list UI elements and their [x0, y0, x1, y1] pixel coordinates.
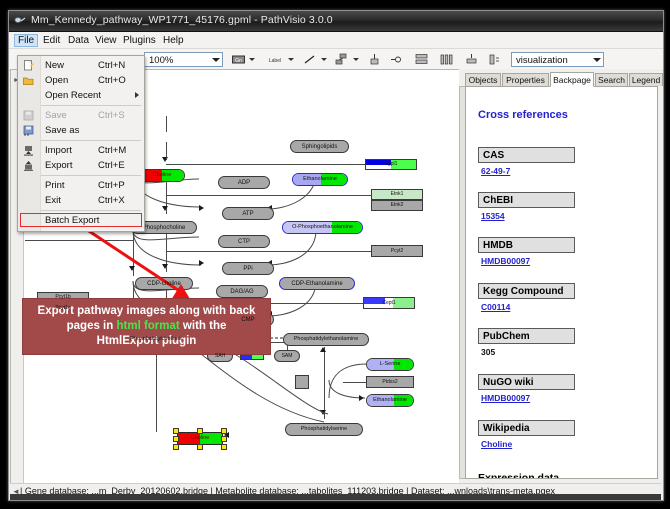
- window-title: Mm_Kennedy_pathway_WP1771_45176.gpml - P…: [31, 14, 333, 26]
- node-gene-etnk2[interactable]: Etnk2: [371, 200, 423, 211]
- align-top-icon[interactable]: [367, 52, 382, 67]
- side-panel-tabs: Objects Properties Backpage Search Legen…: [465, 72, 662, 87]
- node-label: Choline: [191, 436, 210, 442]
- xref-header-label: Kegg Compound: [479, 286, 564, 297]
- menu-item-label: Exit: [45, 195, 61, 206]
- svg-text:Gn: Gn: [235, 58, 242, 64]
- screenshot-root: Mm_Kennedy_pathway_WP1771_45176.gpml - P…: [0, 0, 670, 509]
- datanode-tool-icon[interactable]: Gn: [231, 52, 246, 67]
- menu-item-accel: Ctrl+P: [98, 180, 125, 191]
- xref-header: NuGO wiki: [478, 374, 575, 390]
- callout-highlight: html format: [116, 320, 179, 332]
- menu-help[interactable]: Help: [159, 34, 188, 47]
- open-folder-icon: [23, 75, 34, 86]
- edge-gene-stub-chkb: [25, 240, 134, 241]
- node-label: CDP-choline: [147, 281, 181, 287]
- cross-references-title: Cross references: [478, 109, 568, 121]
- menu-item-label: Import: [45, 145, 72, 156]
- selection-handle[interactable]: [173, 444, 179, 450]
- xref-entry-chebi: ChEBI 15354: [478, 192, 575, 208]
- order-icon[interactable]: [487, 52, 502, 67]
- node-label: DAG/AG: [230, 289, 253, 295]
- menu-item-batch-export[interactable]: Batch Export: [18, 213, 144, 228]
- node-ethanolamine-top[interactable]: Ethanolamine: [292, 173, 348, 186]
- xref-header: Wikipedia: [478, 420, 575, 436]
- new-document-icon: [23, 60, 34, 71]
- menu-item-new[interactable]: New Ctrl+N: [18, 58, 144, 73]
- menu-item-save: Save Ctrl+S: [18, 108, 144, 123]
- menu-item-accel: Ctrl+X: [98, 195, 125, 206]
- xref-value-link[interactable]: HMDB00097: [481, 256, 530, 266]
- node-gene-cept1[interactable]: Cept1: [363, 297, 415, 309]
- menu-item-accel: Ctrl+E: [98, 160, 125, 171]
- stack-vertical-icon[interactable]: [413, 52, 430, 67]
- menu-item-accel: Ctrl+N: [98, 60, 125, 71]
- menu-view[interactable]: View: [91, 34, 121, 47]
- menu-bar: File Edit Data View Plugins Help: [9, 32, 663, 49]
- menu-file[interactable]: File: [14, 34, 38, 47]
- node-phosphatidylethanolamine[interactable]: Phosphatidylethanolamine: [283, 333, 369, 346]
- export-icon: [23, 160, 34, 171]
- node-label: ADP: [238, 180, 250, 186]
- xref-header-label: PubChem: [479, 331, 530, 342]
- menu-item-label: Batch Export: [45, 215, 99, 226]
- tab-legend[interactable]: Legend: [629, 73, 663, 86]
- node-adp[interactable]: ADP: [218, 176, 270, 189]
- xref-value-link[interactable]: 62-49-7: [481, 166, 510, 176]
- menu-item-open-recent[interactable]: Open Recent: [18, 88, 144, 103]
- node-o-phosphoethanolamine[interactable]: O-Phosphoethanolamine: [282, 221, 363, 234]
- xref-value-text: 305: [481, 347, 495, 357]
- menu-item-accel: Ctrl+M: [98, 145, 126, 156]
- node-sam[interactable]: SAM: [274, 350, 300, 362]
- save-disk-icon: [23, 110, 34, 121]
- xref-header: Kegg Compound: [478, 283, 575, 299]
- node-l-serine[interactable]: L-Serine: [366, 358, 414, 371]
- menu-item-label: Save: [45, 110, 67, 121]
- xref-header-label: Wikipedia: [479, 423, 530, 434]
- menu-item-label: Print: [45, 180, 65, 191]
- line-tool-icon[interactable]: [302, 52, 317, 67]
- application-window: Mm_Kennedy_pathway_WP1771_45176.gpml - P…: [8, 10, 664, 501]
- node-sphingolipids[interactable]: Sphingolipids: [290, 140, 349, 153]
- zoom-combobox[interactable]: 100%: [144, 52, 223, 67]
- node-ppi[interactable]: PPi: [222, 262, 274, 275]
- node-choline-top[interactable]: Choline: [139, 169, 185, 182]
- node-label: Sphingolipids: [302, 144, 338, 150]
- align-left-icon[interactable]: [389, 52, 406, 67]
- xref-entry-hmdb: HMDB HMDB00097: [478, 237, 575, 253]
- menu-item-label: Open: [45, 75, 68, 86]
- xref-header-label: HMDB: [479, 240, 513, 251]
- callout-line-2-b: with the: [180, 320, 227, 332]
- node-label: Pcyt1b: [55, 295, 70, 300]
- node-dag-ag[interactable]: DAG/AG: [216, 285, 268, 298]
- node-gene-pcyt2[interactable]: Pcyt2: [371, 245, 423, 257]
- zoom-value: 100%: [149, 55, 173, 66]
- menu-item-print[interactable]: Print Ctrl+P: [18, 178, 144, 193]
- edge-sphingolipids-in: [166, 116, 167, 132]
- menu-item-label: Save as: [45, 125, 79, 136]
- xref-entry-pubchem: PubChem 305: [478, 328, 575, 344]
- menu-item-label: Export: [45, 160, 72, 171]
- selection-handle[interactable]: [221, 436, 227, 442]
- node-label: CDP-Ethanolamine: [291, 281, 342, 287]
- node-label: Choline: [153, 173, 172, 179]
- node-label: O-Phosphoethanolamine: [292, 225, 353, 231]
- backpage-content: Cross references CAS 62-49-7 ChEBI 15354…: [465, 86, 658, 479]
- visualization-combobox[interactable]: visualization: [511, 52, 604, 67]
- xref-header: ChEBI: [478, 192, 575, 208]
- xref-header-label: CAS: [479, 150, 504, 161]
- node-label: CTP: [238, 239, 250, 245]
- selection-handle[interactable]: [197, 444, 203, 450]
- shape-dropdown-icon[interactable]: [353, 58, 359, 61]
- xref-value-link[interactable]: Choline: [481, 439, 512, 449]
- selection-handle[interactable]: [197, 428, 203, 434]
- node-gene-ptdss2[interactable]: Ptdss2: [366, 376, 414, 388]
- node-phosphatidylserine[interactable]: Phosphatidylserine: [285, 423, 363, 436]
- node-label: Cept1: [382, 301, 395, 306]
- menu-item-exit[interactable]: Exit Ctrl+X: [18, 193, 144, 208]
- visualization-value: visualization: [516, 55, 568, 66]
- node-label: Phosphocholine: [143, 225, 186, 231]
- menu-data[interactable]: Data: [64, 34, 93, 47]
- node-cdp-ethanolamine[interactable]: CDP-Ethanolamine: [279, 277, 355, 290]
- node-ctp[interactable]: CTP: [218, 235, 270, 248]
- tab-objects[interactable]: Objects: [465, 73, 501, 86]
- tab-backpage[interactable]: Backpage: [550, 72, 594, 87]
- node-label: Sgpl1: [385, 162, 398, 167]
- menu-item-import[interactable]: Import Ctrl+M: [18, 143, 144, 158]
- node-label: Pcyt2: [391, 249, 404, 254]
- file-menu-dropdown[interactable]: New Ctrl+N Open Ctrl+O Open Recent Save …: [17, 55, 145, 232]
- callout-line-2: pages in html format with the: [27, 319, 266, 334]
- xref-entry-wikipedia: Wikipedia Choline: [478, 420, 575, 436]
- menu-item-open[interactable]: Open Ctrl+O: [18, 73, 144, 88]
- xref-header-label: ChEBI: [479, 195, 513, 206]
- xref-entry-nugo: NuGO wiki HMDB00097: [478, 374, 575, 390]
- node-label: SAH: [215, 354, 225, 359]
- menu-item-accel: Ctrl+S: [98, 110, 125, 121]
- distribute-icon[interactable]: [438, 52, 455, 67]
- label-tool-icon[interactable]: Label: [264, 52, 286, 67]
- svg-text:Label: Label: [269, 58, 281, 64]
- title-bar: Mm_Kennedy_pathway_WP1771_45176.gpml - P…: [9, 11, 663, 32]
- node-label: Ethanolamine: [373, 398, 407, 404]
- edge-gene-stub-ptdss2: [343, 382, 366, 383]
- xref-header: PubChem: [478, 328, 575, 344]
- menu-item-save-as[interactable]: Save as: [18, 123, 144, 138]
- node-gene-unlabeled[interactable]: [295, 375, 309, 389]
- menu-item-accel: Ctrl+O: [98, 75, 126, 86]
- selection-handle[interactable]: [173, 436, 179, 442]
- node-label: Phosphatidylserine: [301, 427, 347, 433]
- save-as-icon: [23, 125, 34, 136]
- selection-handle[interactable]: [221, 428, 227, 434]
- node-label: Phosphatidylcholines: [130, 337, 182, 343]
- edge-gene-stub-sgpl1: [166, 164, 365, 165]
- pathvisio-app-icon: [14, 15, 26, 27]
- arrowhead-right-icon: [199, 205, 204, 211]
- window-bottom-strip: [10, 494, 661, 500]
- node-label: CMP: [241, 317, 254, 323]
- edge-sphingolipids-to-ethanolamine: [166, 142, 167, 160]
- selection-handle[interactable]: [173, 428, 179, 434]
- selection-handle[interactable]: [221, 444, 227, 450]
- node-gene-sgpl1[interactable]: Sgpl1: [365, 159, 417, 170]
- chevron-down-icon: [212, 58, 220, 62]
- node-ethanolamine-bottom[interactable]: Ethanolamine: [366, 394, 414, 407]
- node-atp[interactable]: ATP: [222, 207, 274, 220]
- node-label: SAM: [282, 354, 293, 359]
- node-gene-etnk1[interactable]: Etnk1: [371, 189, 423, 200]
- node-label: L-Serine: [380, 362, 401, 368]
- node-label: Etnk1: [391, 192, 404, 197]
- xref-value-link[interactable]: HMDB00097: [481, 393, 530, 403]
- xref-value-link[interactable]: 15354: [481, 211, 505, 221]
- menu-item-label: New: [45, 60, 64, 71]
- menu-item-label: Open Recent: [45, 90, 101, 101]
- xref-value-link[interactable]: C00114: [481, 302, 510, 312]
- xref-header: CAS: [478, 147, 575, 163]
- menu-plugins[interactable]: Plugins: [119, 34, 160, 47]
- size-common-icon[interactable]: [464, 52, 479, 67]
- xref-entry-cas: CAS 62-49-7: [478, 147, 575, 163]
- tab-search[interactable]: Search: [595, 73, 628, 86]
- edge-gene-stub-etnk: [166, 195, 371, 196]
- node-label: Ethanolamine: [303, 177, 337, 183]
- label-dropdown-icon[interactable]: [288, 58, 294, 61]
- callout-line-2-a: pages in: [67, 320, 117, 332]
- node-label: PPi: [243, 266, 252, 272]
- chevron-down-icon: [593, 58, 601, 62]
- xref-header-label: NuGO wiki: [479, 377, 534, 388]
- arrowhead-down-icon: [162, 157, 168, 162]
- arrowhead-right-icon: [199, 260, 204, 266]
- expression-data-title: Expression data: [478, 472, 559, 479]
- node-label: Pcyt1a: [55, 306, 70, 311]
- node-label: Etnk2: [391, 203, 404, 208]
- side-panel: Objects Properties Backpage Search Legen…: [459, 69, 662, 483]
- tab-properties[interactable]: Properties: [502, 73, 549, 86]
- node-label: Ptdss2: [382, 380, 397, 385]
- xref-header: HMDB: [478, 237, 575, 253]
- edge-gene-stub-pcyt2: [166, 251, 371, 252]
- node-cdp-choline[interactable]: CDP-choline: [135, 277, 193, 290]
- import-icon: [23, 145, 34, 156]
- line-dropdown-icon[interactable]: [321, 58, 327, 61]
- menu-item-export[interactable]: Export Ctrl+E: [18, 158, 144, 173]
- node-label: Phosphatidylethanolamine: [294, 337, 359, 343]
- xref-entry-kegg: Kegg Compound C00114: [478, 283, 575, 299]
- shape-tool-icon[interactable]: [334, 52, 349, 67]
- datanode-dropdown-icon[interactable]: [249, 58, 255, 61]
- menu-edit[interactable]: Edit: [39, 34, 64, 47]
- node-label: ATP: [242, 211, 253, 217]
- chevron-right-icon: [135, 92, 139, 98]
- arrowhead-right-icon: [359, 395, 364, 401]
